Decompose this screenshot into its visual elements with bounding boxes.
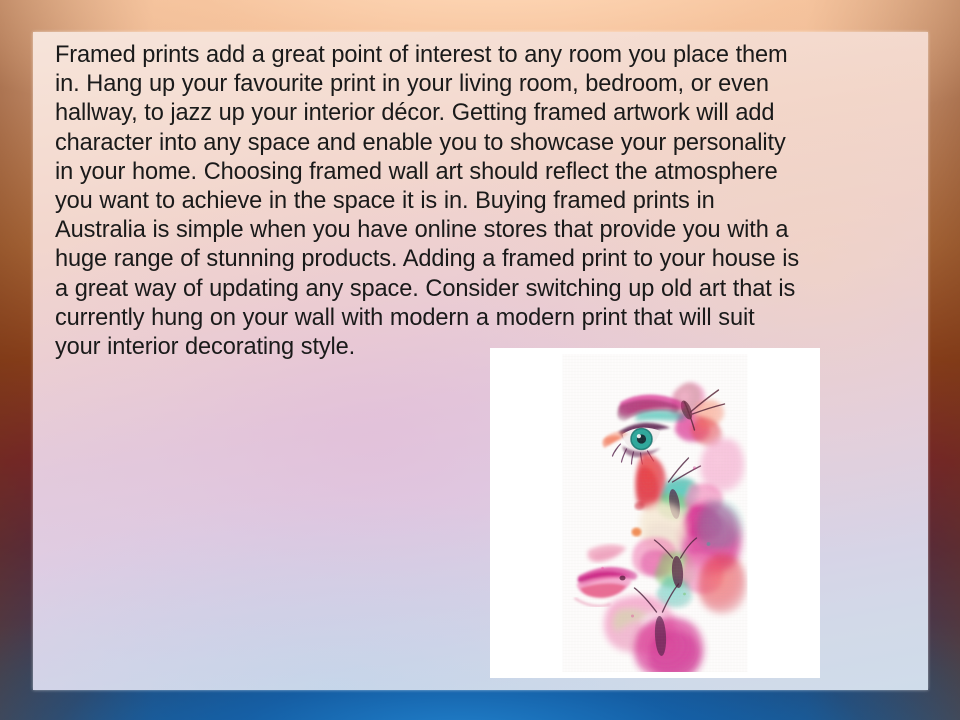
slide-body-text: Framed prints add a great point of inter… [55, 41, 917, 362]
artwork-photo-frame [490, 348, 820, 678]
presentation-slide: Framed prints add a great point of inter… [0, 0, 960, 720]
watercolour-face-with-butterflies-image [563, 354, 748, 672]
slide-content-panel: Framed prints add a great point of inter… [33, 32, 928, 690]
